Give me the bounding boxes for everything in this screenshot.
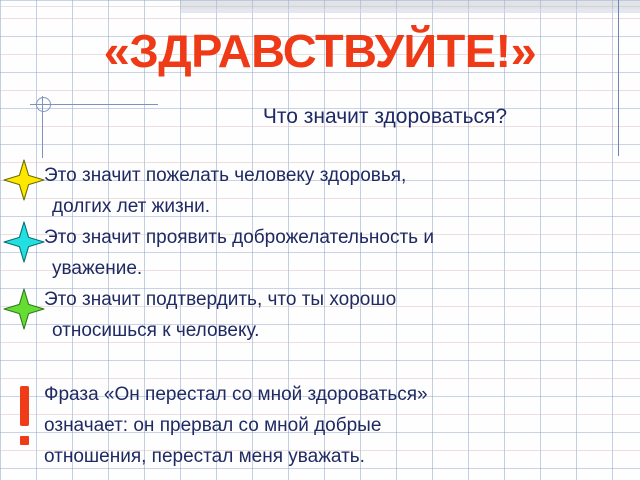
note-block: Фраза «Он перестал со мной здороваться» … xyxy=(44,379,624,472)
note-line: означает: он прервал со мной добрые xyxy=(44,410,624,441)
exclamation-dot xyxy=(20,436,29,445)
star-yellow-icon xyxy=(2,158,46,202)
exclamation-mark-icon xyxy=(18,386,32,456)
blueprint-circle-marker xyxy=(36,97,51,112)
star-cyan-icon xyxy=(2,220,46,264)
presentation-slide: «ЗДРАВСТВУЙТЕ!» Что значит здороваться? … xyxy=(0,0,640,480)
bullet-list: Это значит пожелать человеку здоровья, д… xyxy=(44,160,632,346)
note-line: отношения, перестал меня уважать. xyxy=(44,441,624,472)
note-line: Фраза «Он перестал со мной здороваться» xyxy=(44,379,624,410)
exclamation-bar xyxy=(20,386,29,426)
bullet-line: Это значит пожелать человеку здоровья, xyxy=(44,160,632,191)
top-edge-band-secondary xyxy=(180,9,640,13)
slide-title: «ЗДРАВСТВУЙТЕ!» xyxy=(0,24,640,78)
top-edge-band xyxy=(180,0,640,9)
slide-title-text: «ЗДРАВСТВУЙТЕ!» xyxy=(104,24,536,78)
bullet-line: Это значит проявить доброжелательность и xyxy=(44,222,632,253)
star-green-icon xyxy=(2,287,46,331)
slide-subtitle: Что значит здороваться? xyxy=(150,103,620,131)
bullet-line: уважение. xyxy=(44,253,632,284)
bullet-line: долгих лет жизни. xyxy=(44,191,632,222)
bullet-line: относишься к человеку. xyxy=(44,315,632,346)
bullet-line: Это значит подтвердить, что ты хорошо xyxy=(44,284,632,315)
